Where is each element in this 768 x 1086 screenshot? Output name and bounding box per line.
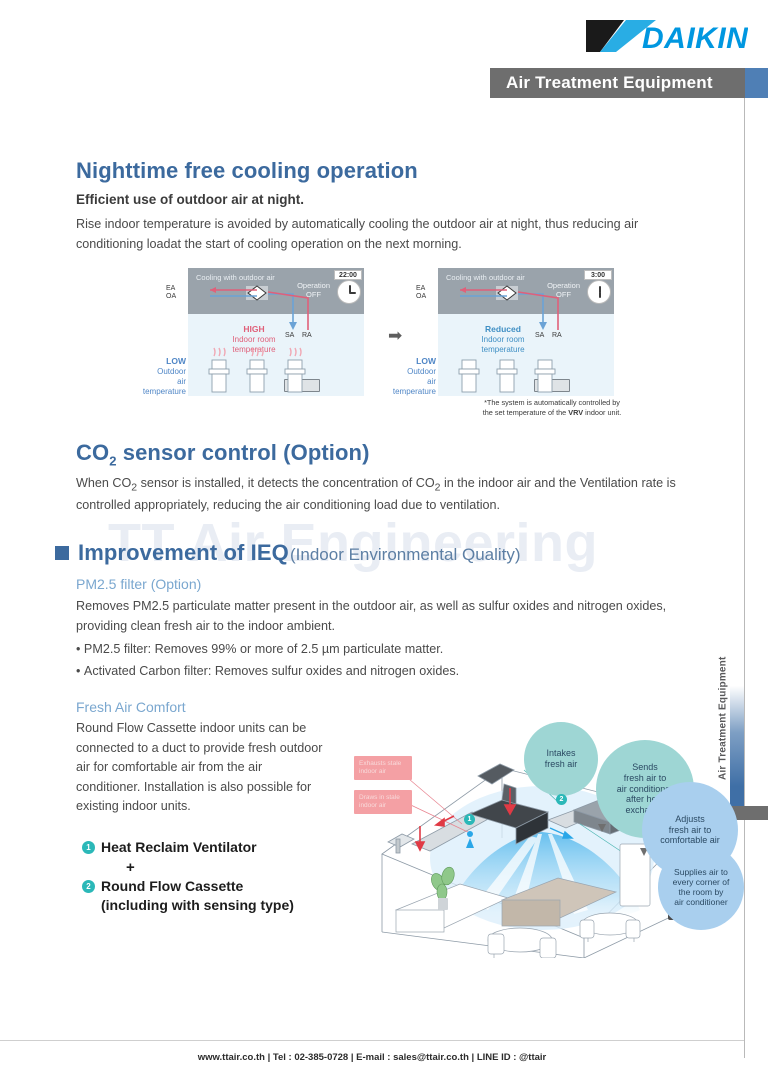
step-marker-2: 2: [556, 794, 567, 805]
outdoor-temp-label-right: LOW Outdoor air temperature: [390, 356, 436, 397]
svg-text:DAIKIN: DAIKIN: [642, 22, 748, 54]
ieq-bullet-list: • PM2.5 filter: Removes 99% or more of 2…: [76, 638, 459, 682]
callout-bubble-intakes-fresh-air: Intakes fresh air: [524, 722, 598, 796]
section-co2-title: CO2 sensor control (Option): [76, 440, 370, 468]
page-root: DAIKIN Air Treatment Equipment Air Treat…: [0, 0, 768, 1086]
list-item: 2 Round Flow Cassette (including with se…: [82, 877, 342, 915]
list-item-label: Round Flow Cassette (including with sens…: [101, 877, 294, 915]
section-ieq-bullet-square: [55, 546, 69, 560]
diagram-panel-left: Cooling with outdoor air Operation OFF 2…: [188, 268, 364, 396]
fresh-air-subtitle: Fresh Air Comfort: [76, 699, 186, 715]
list-item: • PM2.5 filter: Removes 99% or more of 2…: [76, 638, 459, 660]
header-band-title: Air Treatment Equipment: [506, 73, 713, 93]
footer-contact-text: www.ttair.co.th | Tel : 02-385-0728 | E-…: [0, 1052, 744, 1063]
outdoor-temp-label-left: LOW Outdoor air temperature: [140, 356, 186, 397]
diagram-footnote: *The system is automatically controlled …: [462, 398, 642, 418]
pm25-filter-body: Removes PM2.5 particulate matter present…: [76, 597, 676, 636]
callout-exhausts-stale-indoor-air: Exhausts stale indoor air: [354, 756, 412, 780]
pm25-filter-subtitle: PM2.5 filter (Option): [76, 576, 201, 592]
section-nighttime-title: Nighttime free cooling operation: [76, 158, 418, 184]
diagram-transition-arrow: ➡: [388, 328, 404, 344]
step-marker-1: 1: [464, 814, 475, 825]
section-ieq-title-suffix: (Indoor Environmental Quality): [290, 545, 521, 565]
header-band: Air Treatment Equipment: [490, 68, 745, 98]
header-band-accent: [745, 68, 768, 98]
nighttime-diagram: Cooling with outdoor air Operation OFF 2…: [150, 268, 640, 413]
number-badge-1: 1: [82, 841, 95, 854]
number-badge-2: 2: [82, 880, 95, 893]
callout-draws-in-stale-indoor-air: Draws in stale indoor air: [354, 790, 412, 814]
label-ea-right: EA: [416, 285, 425, 292]
section-nighttime-body: Rise indoor temperature is avoided by au…: [76, 215, 696, 254]
fresh-air-body: Round Flow Cassette indoor units can be …: [76, 719, 326, 817]
diagram-panel-right: Cooling with outdoor air Operation OFF 3…: [438, 268, 614, 396]
label-oa-left: OA: [166, 293, 176, 300]
list-item-label: Heat Reclaim Ventilator: [101, 838, 257, 857]
list-item: 1 Heat Reclaim Ventilator: [82, 838, 342, 857]
occupants-icons-right: [452, 342, 628, 402]
fresh-air-numbered-list: 1 Heat Reclaim Ventilator + 2 Round Flow…: [82, 838, 342, 917]
callout-bubble-supplies-air: Supplies air to every corner of the room…: [658, 844, 744, 930]
section-ieq-title: Improvement of IEQ: [78, 540, 289, 566]
plus-symbol: +: [126, 859, 342, 876]
label-ra-left: RA: [302, 332, 312, 339]
list-item: • Activated Carbon filter: Removes sulfu…: [76, 660, 459, 682]
footer-divider: [0, 1040, 744, 1041]
occupants-icons-left: [202, 342, 378, 402]
label-ea-left: EA: [166, 285, 175, 292]
section-nighttime-subtitle: Efficient use of outdoor air at night.: [76, 192, 304, 207]
daikin-logo: DAIKIN: [582, 18, 748, 54]
section-co2-body: When CO2 sensor is installed, it detects…: [76, 474, 686, 515]
page-vertical-rule: [744, 98, 745, 1058]
label-ra-right: RA: [552, 332, 562, 339]
fresh-air-illustration: Intakes fresh air Sends fresh air to air…: [352, 706, 744, 958]
label-oa-right: OA: [416, 293, 426, 300]
